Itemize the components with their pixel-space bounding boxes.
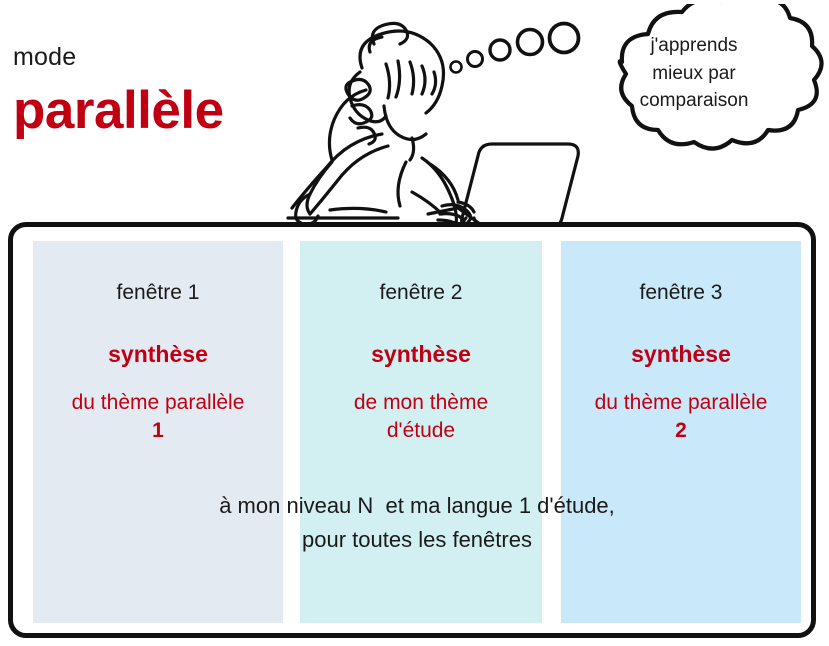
thought-line-2: mieux par	[592, 60, 796, 88]
window-3-synthesis-label: synthèse	[561, 341, 801, 368]
window-2-subtitle: de mon thème d'étude	[300, 389, 542, 444]
window-column-3[interactable]: fenêtre 3 synthèse du thème parallèle 2	[561, 241, 801, 623]
page-title: parallèle	[13, 84, 224, 137]
header-area: mode parallèle	[0, 0, 829, 222]
windows-panel: fenêtre 1 synthèse du thème parallèle 1 …	[8, 222, 816, 638]
window-1-synthesis-label: synthèse	[33, 341, 283, 368]
thought-line-3: comparaison	[592, 87, 796, 115]
window-1-subtitle-line-2: 1	[33, 417, 283, 445]
window-column-2[interactable]: fenêtre 2 synthèse de mon thème d'étude	[300, 241, 542, 623]
window-2-subtitle-line-1: de mon thème	[300, 389, 542, 417]
window-2-subtitle-line-2: d'étude	[300, 417, 542, 445]
thought-line-1: j'apprends	[592, 32, 796, 60]
window-3-subtitle: du thème parallèle 2	[561, 389, 801, 444]
mode-label: mode	[13, 45, 76, 70]
window-1-subtitle-line-1: du thème parallèle	[33, 389, 283, 417]
window-1-subtitle: du thème parallèle 1	[33, 389, 283, 444]
window-3-subtitle-line-1: du thème parallèle	[561, 389, 801, 417]
window-2-header: fenêtre 2	[300, 281, 542, 305]
window-column-1[interactable]: fenêtre 1 synthèse du thème parallèle 1	[33, 241, 283, 623]
thought-bubble-text: j'apprends mieux par comparaison	[592, 32, 796, 115]
window-2-synthesis-label: synthèse	[300, 341, 542, 368]
window-3-header: fenêtre 3	[561, 281, 801, 305]
window-1-header: fenêtre 1	[33, 281, 283, 305]
window-columns: fenêtre 1 synthèse du thème parallèle 1 …	[13, 227, 821, 643]
window-3-subtitle-line-2: 2	[561, 417, 801, 445]
